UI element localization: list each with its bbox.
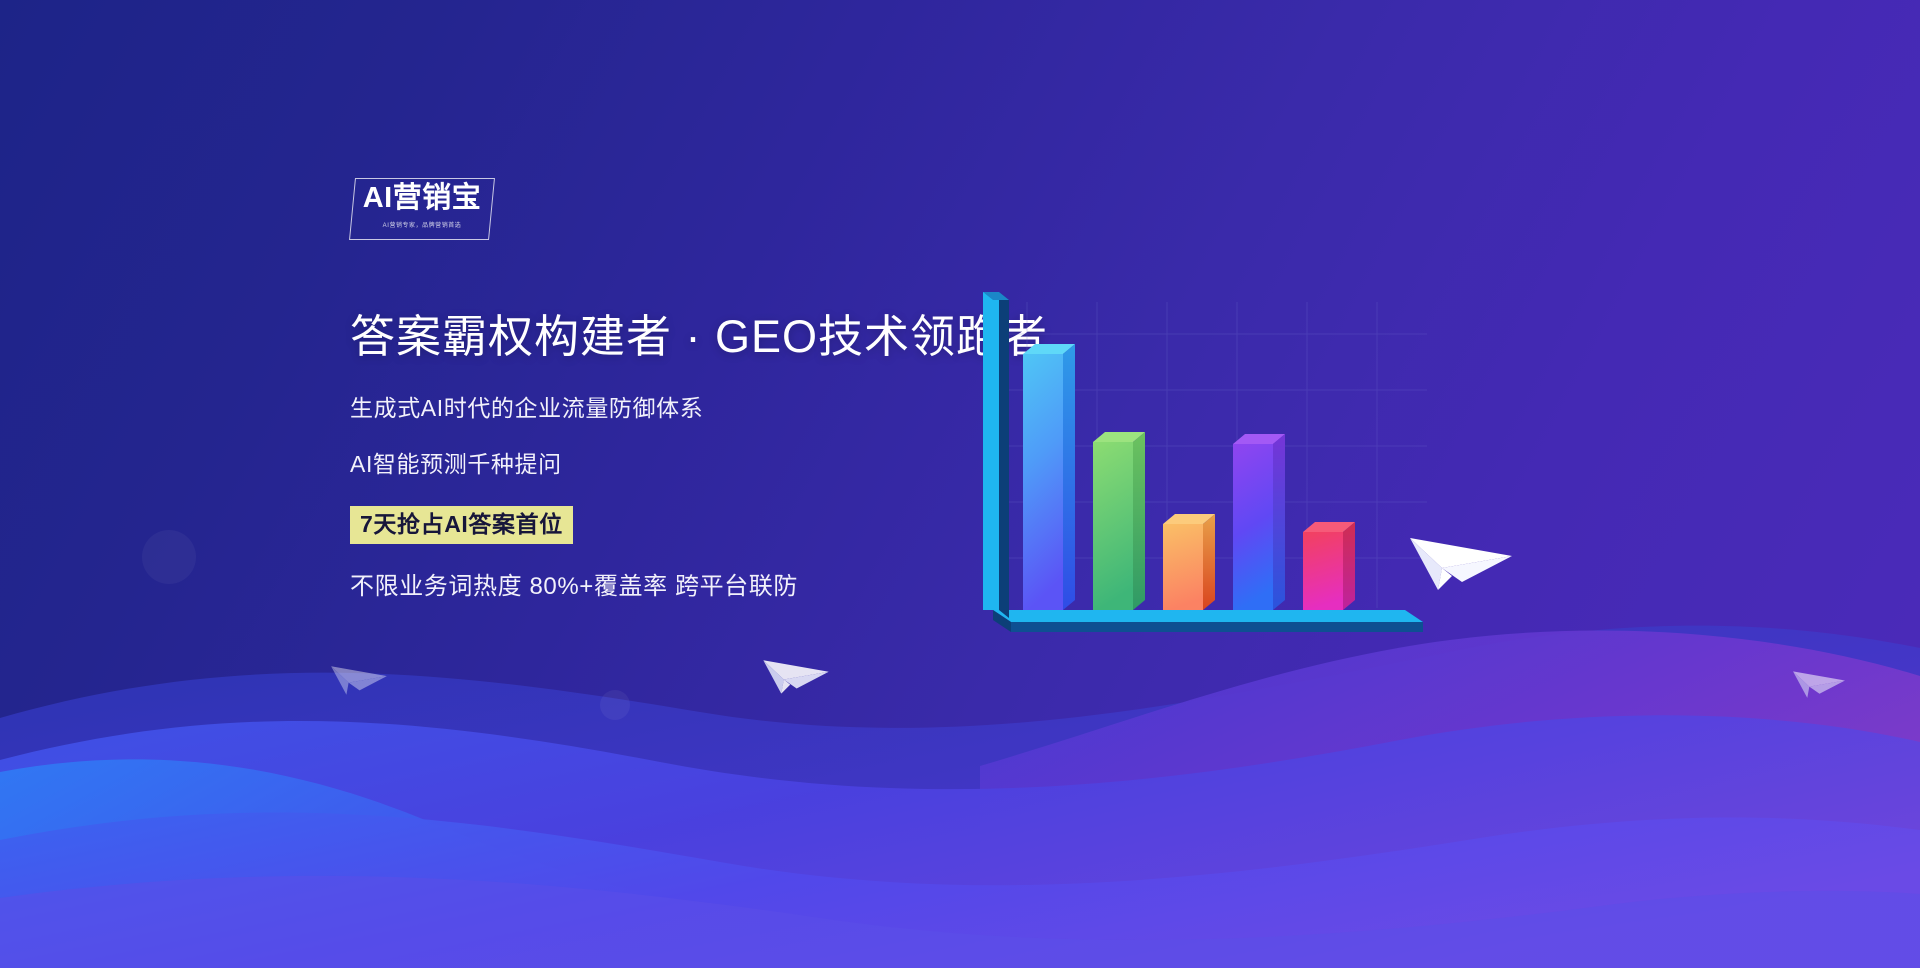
brand-logo[interactable]: AI营销宝 AI营销专家，品牌营销首选 (352, 178, 492, 240)
chart-bar-4 (1233, 434, 1285, 610)
hero-subline-3: 不限业务词热度 80%+覆盖率 跨平台联防 (350, 575, 1050, 599)
paper-plane-icon (762, 646, 830, 700)
chart-bar-2 (1093, 432, 1145, 610)
chart-bar-1 (1023, 344, 1075, 610)
paper-plane-icon (1408, 516, 1514, 597)
chart-y-axis (983, 292, 1009, 618)
decorative-circle (600, 690, 630, 720)
chart-floor (993, 610, 1423, 632)
hero-copy-block: 答案霸权构建者 · GEO技术领跑者 生成式AI时代的企业流量防御体系 AI智能… (350, 310, 1050, 599)
hero-subline-1: 生成式AI时代的企业流量防御体系 (350, 397, 1050, 420)
hero-highlight-wrap: 7天抢占AI答案首位 (350, 506, 1050, 544)
decorative-circle (142, 530, 196, 584)
hero-subline-2: AI智能预测千种提问 (350, 453, 1050, 476)
hero-headline: 答案霸权构建者 · GEO技术领跑者 (350, 310, 1050, 363)
bar-chart-illustration (975, 292, 1435, 662)
hero-highlight-badge: 7天抢占AI答案首位 (350, 506, 573, 544)
hero-banner: AI营销宝 AI营销专家，品牌营销首选 答案霸权构建者 · GEO技术领跑者 生… (0, 0, 1920, 968)
logo-wordmark: AI营销宝 (352, 184, 492, 213)
chart-bar-3 (1163, 514, 1215, 610)
paper-plane-icon (330, 654, 388, 701)
chart-bar-5 (1303, 522, 1355, 610)
logo-tagline: AI营销专家，品牌营销首选 (358, 219, 487, 228)
paper-plane-icon (1792, 660, 1846, 704)
